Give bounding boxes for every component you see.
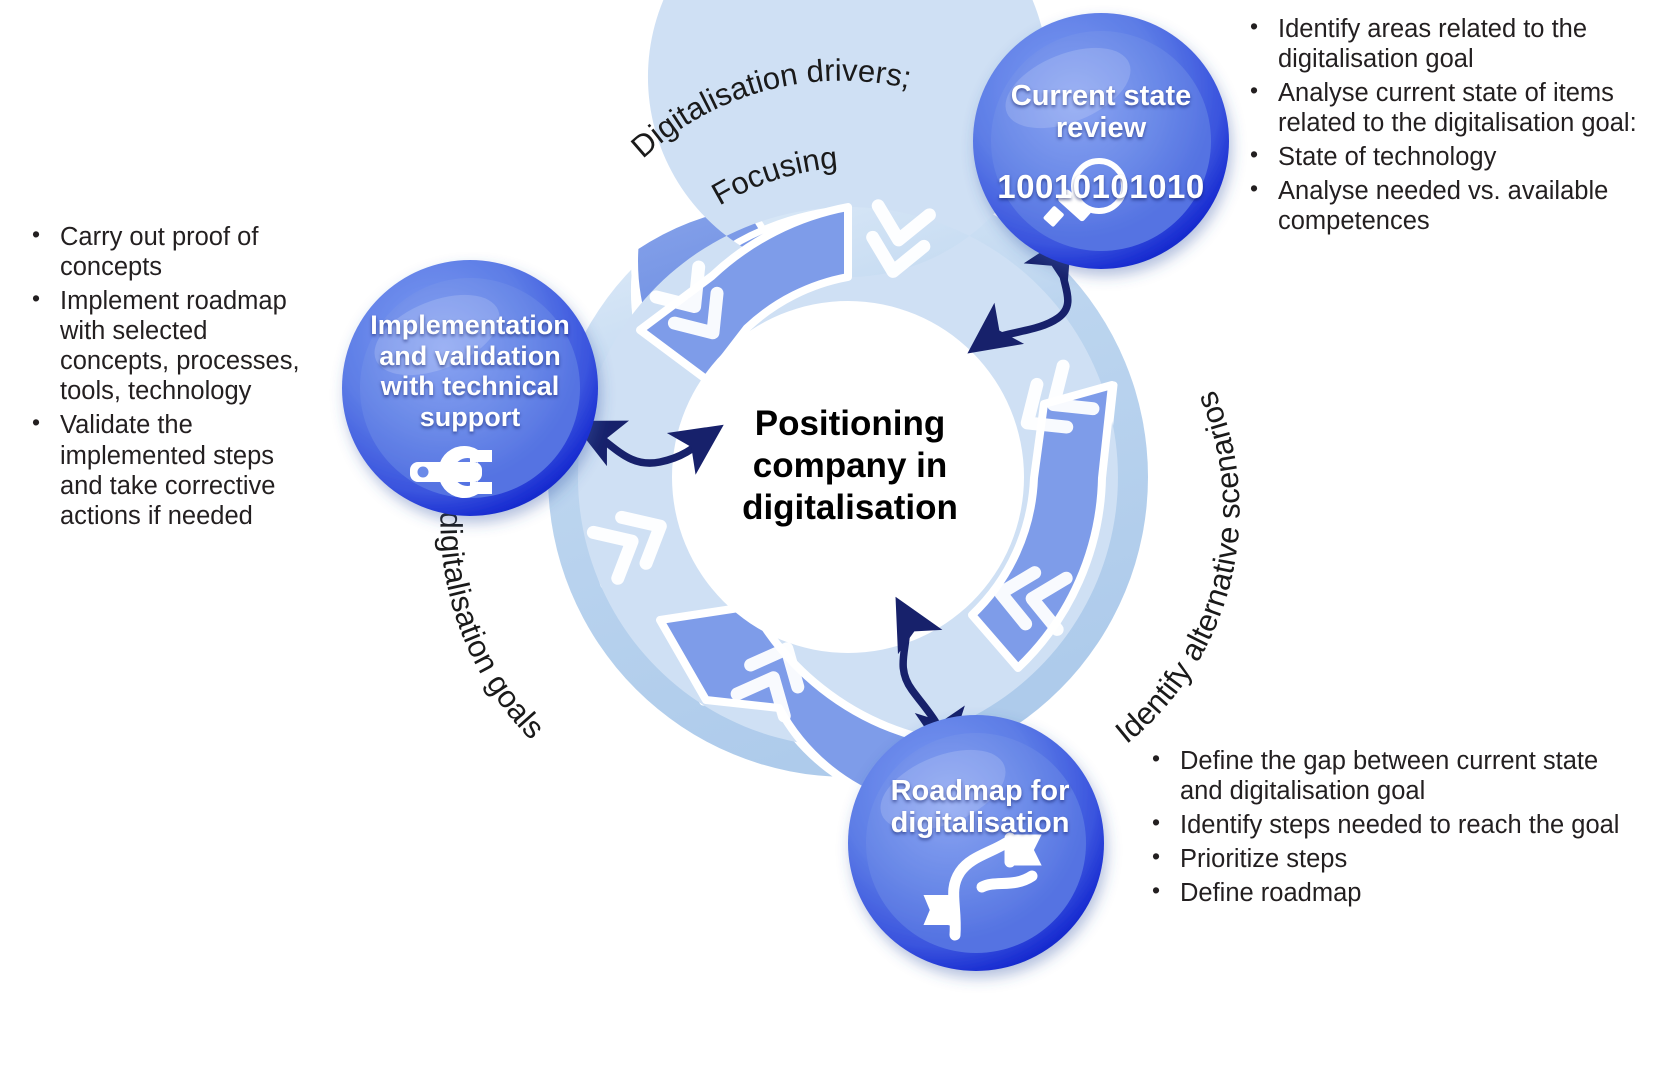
bullet-list-roadmap: Define the gap between current state and… [1136, 746, 1646, 912]
bullet-list-implementation: Carry out proof of conceptsImplement roa… [22, 222, 322, 535]
list-item: Define roadmap [1136, 878, 1646, 908]
roadmap-bullets: Define the gap between current state and… [1136, 746, 1646, 908]
list-item: Analyse current state of items related t… [1240, 78, 1644, 138]
list-item: Carry out proof of concepts [22, 222, 322, 282]
list-item: Prioritize steps [1136, 844, 1646, 874]
node-implementation[interactable] [342, 260, 598, 516]
center-line-2: company in [700, 445, 1000, 487]
list-item: State of technology [1240, 142, 1644, 172]
implementation-bullets: Carry out proof of conceptsImplement roa… [22, 222, 322, 531]
list-item: Identify areas related to the digitalisa… [1240, 14, 1644, 74]
node-current-state[interactable] [973, 13, 1229, 269]
list-item: Implement roadmap with selected concepts… [22, 286, 322, 406]
current-state-bullets: Identify areas related to the digitalisa… [1240, 14, 1644, 237]
list-item: Analyse needed vs. available competences [1240, 176, 1644, 236]
center-label: Positioning company in digitalisation [700, 403, 1000, 529]
center-line-1: Positioning [700, 403, 1000, 445]
center-line-3: digitalisation [700, 487, 1000, 529]
diagram-canvas: Digitalisation drivers; Focusing Identif… [0, 0, 1654, 1072]
list-item: Identify steps needed to reach the goal [1136, 810, 1646, 840]
list-item: Validate the implemented steps and take … [22, 410, 322, 530]
node-roadmap[interactable] [848, 715, 1104, 971]
bullet-list-current-state: Identify areas related to the digitalisa… [1240, 14, 1644, 241]
list-item: Define the gap between current state and… [1136, 746, 1646, 806]
